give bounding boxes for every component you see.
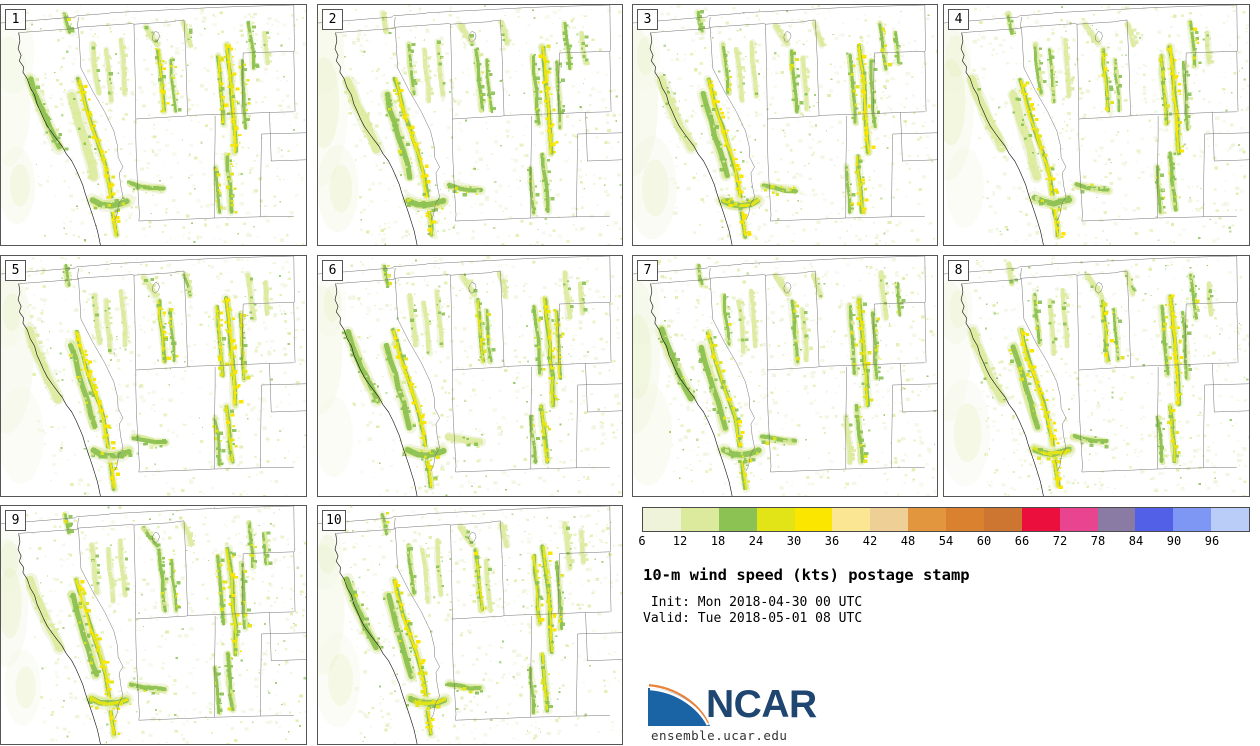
map-canvas xyxy=(318,5,622,245)
init-time-label: Init: Mon 2018-04-30 00 UTC xyxy=(643,595,1243,611)
colorbar-tick-18: 18 xyxy=(711,533,725,549)
colorbar-tick-78: 78 xyxy=(1091,533,1105,549)
panel-number-label-3: 3 xyxy=(637,9,658,30)
map-canvas xyxy=(944,256,1249,496)
colorbar-tick-54: 54 xyxy=(939,533,953,549)
ncar-logo[interactable]: NCAR ensemble.ucar.edu xyxy=(648,682,948,744)
panel-number-label-7: 7 xyxy=(637,260,658,281)
ncar-url-label: ensemble.ucar.edu xyxy=(651,728,787,743)
colorbar-tick-72: 72 xyxy=(1053,533,1067,549)
colorbar-tick-42: 42 xyxy=(863,533,877,549)
ncar-wordmark: NCAR xyxy=(706,685,817,724)
colorbar-tick-24: 24 xyxy=(749,533,763,549)
map-panel-member-4[interactable]: 4 xyxy=(943,4,1250,246)
colorbar-area: 6121824303642485460667278849096 xyxy=(642,507,1250,552)
colorbar-tick-48: 48 xyxy=(901,533,915,549)
colorbar-segment-15 xyxy=(1211,508,1249,531)
colorbar-tick-36: 36 xyxy=(825,533,839,549)
map-panel-member-1[interactable]: 1 xyxy=(0,4,307,246)
colorbar-tick-90: 90 xyxy=(1167,533,1181,549)
map-canvas xyxy=(1,506,306,744)
map-canvas xyxy=(1,256,306,496)
ncar-swoosh-icon xyxy=(648,682,710,726)
colorbar-tick-60: 60 xyxy=(977,533,991,549)
panel-number-label-2: 2 xyxy=(322,9,343,30)
map-canvas xyxy=(318,506,622,744)
panel-number-label-6: 6 xyxy=(322,260,343,281)
colorbar-segment-10 xyxy=(1022,508,1060,531)
colorbar-tick-12: 12 xyxy=(673,533,687,549)
map-canvas xyxy=(1,5,306,245)
map-panel-member-8[interactable]: 8 xyxy=(943,255,1250,497)
colorbar-segment-3 xyxy=(757,508,795,531)
colorbar-segment-7 xyxy=(908,508,946,531)
map-panel-member-10[interactable]: 10 xyxy=(317,505,623,745)
map-panel-member-5[interactable]: 5 xyxy=(0,255,307,497)
map-canvas xyxy=(633,5,937,245)
map-canvas xyxy=(944,5,1249,245)
colorbar xyxy=(642,507,1250,532)
colorbar-segment-4 xyxy=(795,508,833,531)
colorbar-segment-0 xyxy=(643,508,681,531)
panel-number-label-5: 5 xyxy=(5,260,26,281)
panel-number-label-4: 4 xyxy=(948,9,969,30)
colorbar-segment-14 xyxy=(1173,508,1211,531)
colorbar-segment-13 xyxy=(1135,508,1173,531)
colorbar-tick-96: 96 xyxy=(1205,533,1219,549)
panel-number-label-1: 1 xyxy=(5,9,26,30)
valid-time-label: Valid: Tue 2018-05-01 08 UTC xyxy=(643,611,1243,627)
panel-number-label-10: 10 xyxy=(322,510,346,531)
colorbar-tick-6: 6 xyxy=(638,533,645,549)
page-title: 10-m wind speed (kts) postage stamp xyxy=(643,566,1243,584)
map-canvas xyxy=(318,256,622,496)
panel-number-label-9: 9 xyxy=(5,510,26,531)
figure-canvas: 12345678910 6121824303642485460667278849… xyxy=(0,0,1260,746)
map-panel-member-3[interactable]: 3 xyxy=(632,4,938,246)
map-panel-member-7[interactable]: 7 xyxy=(632,255,938,497)
title-block: 10-m wind speed (kts) postage stamp Init… xyxy=(643,566,1243,627)
map-panel-member-9[interactable]: 9 xyxy=(0,505,307,745)
colorbar-tick-66: 66 xyxy=(1015,533,1029,549)
colorbar-tick-labels: 6121824303642485460667278849096 xyxy=(642,533,1250,549)
panel-number-label-8: 8 xyxy=(948,260,969,281)
colorbar-tick-30: 30 xyxy=(787,533,801,549)
colorbar-segment-8 xyxy=(946,508,984,531)
colorbar-segment-6 xyxy=(870,508,908,531)
colorbar-tick-84: 84 xyxy=(1129,533,1143,549)
colorbar-segment-1 xyxy=(681,508,719,531)
colorbar-segment-9 xyxy=(984,508,1022,531)
colorbar-segment-11 xyxy=(1060,508,1098,531)
map-canvas xyxy=(633,256,937,496)
map-panel-member-6[interactable]: 6 xyxy=(317,255,623,497)
colorbar-segment-5 xyxy=(832,508,870,531)
colorbar-segment-12 xyxy=(1098,508,1136,531)
colorbar-segment-2 xyxy=(719,508,757,531)
map-panel-member-2[interactable]: 2 xyxy=(317,4,623,246)
